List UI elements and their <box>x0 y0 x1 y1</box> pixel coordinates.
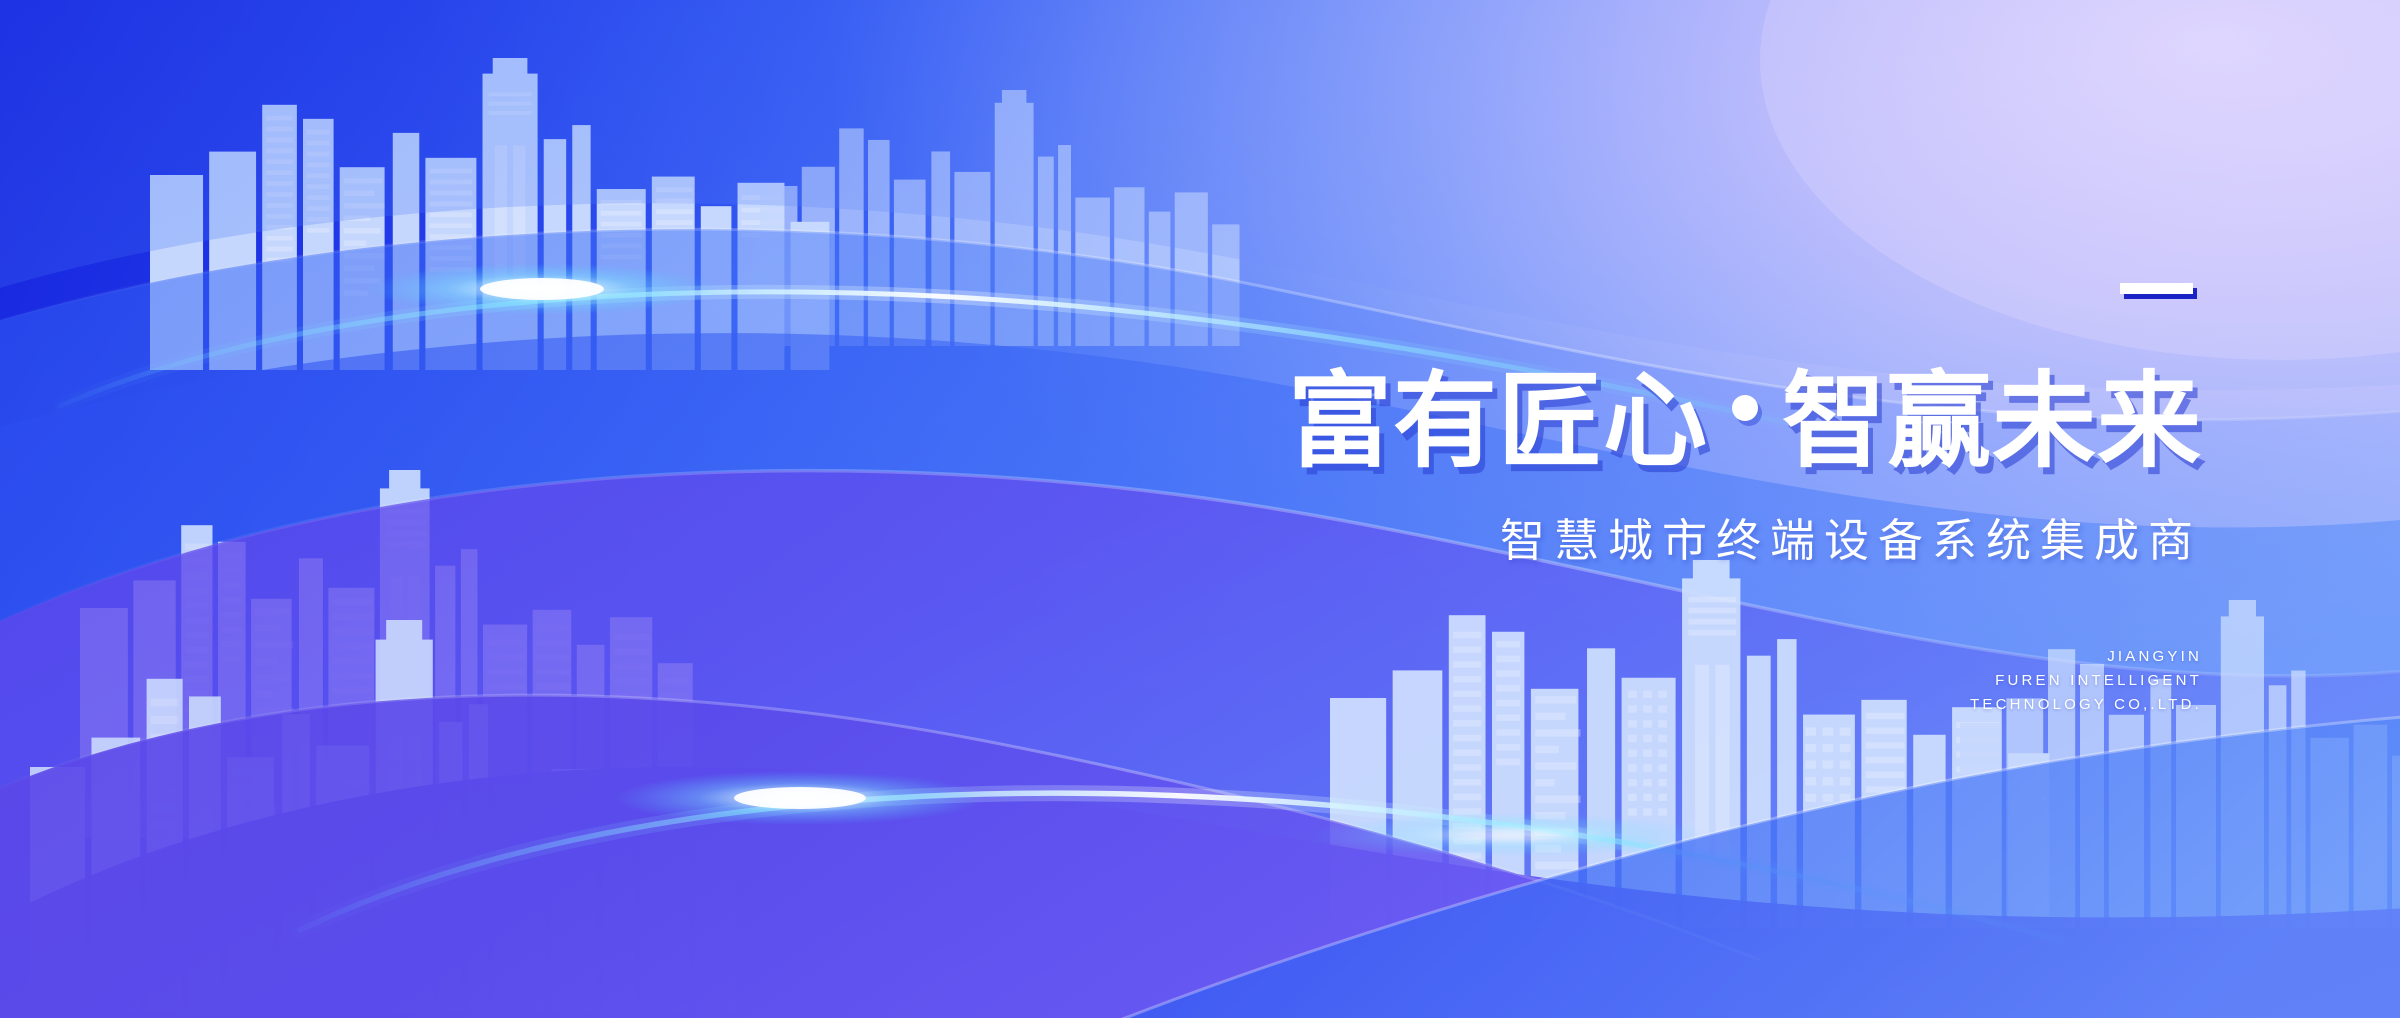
company-name-block: JIANGYIN FUREN INTELLIGENT TECHNOLOGY CO… <box>1970 645 2202 717</box>
headline-separator-dot <box>1732 395 1758 421</box>
marketing-banner: 富有匠心 智赢未来 智慧城市终端设备系统集成商 JIANGYIN FUREN I… <box>0 0 2400 1018</box>
accent-dash-mark <box>2120 283 2193 294</box>
headline-left: 富有匠心 <box>1288 369 1708 473</box>
page-title: 富有匠心 智赢未来 <box>1062 360 2202 482</box>
company-line-1: JIANGYIN <box>1970 645 2202 669</box>
headline-right: 智赢未来 <box>1782 369 2202 473</box>
company-line-3: TECHNOLOGY CO,.LTD. <box>1970 693 2202 717</box>
page-subtitle: 智慧城市终端设备系统集成商 <box>1100 512 2202 568</box>
company-line-2: FUREN INTELLIGENT <box>1970 669 2202 693</box>
background-artwork <box>0 0 2400 1018</box>
